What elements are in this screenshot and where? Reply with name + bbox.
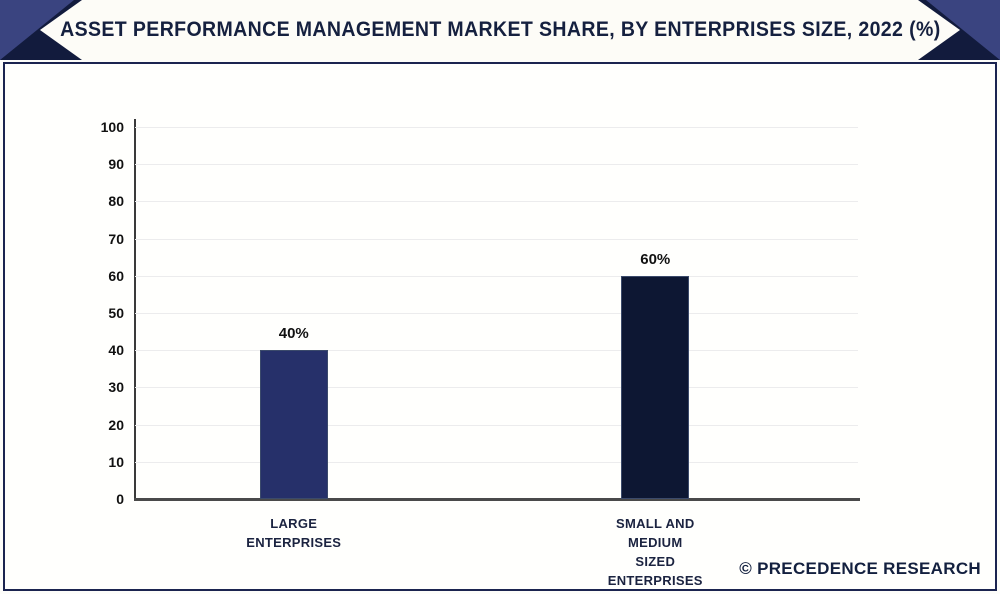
- x-axis-category-label: SMALL AND MEDIUM SIZED ENTERPRISES: [608, 515, 703, 590]
- gridline: [135, 276, 858, 277]
- bar-chart: 100908070605040302010040%LARGE ENTERPRIS…: [5, 64, 999, 593]
- gridline: [135, 127, 858, 128]
- gridline: [135, 425, 858, 426]
- gridline: [135, 164, 858, 165]
- y-axis-tick-label: 50: [108, 305, 124, 321]
- y-axis-tick-label: 70: [108, 231, 124, 247]
- chart-page: ASSET PERFORMANCE MANAGEMENT MARKET SHAR…: [0, 0, 1000, 594]
- bar-2[interactable]: 60%SMALL AND MEDIUM SIZED ENTERPRISES: [621, 276, 689, 499]
- y-axis-tick-label: 10: [108, 454, 124, 470]
- gridline: [135, 239, 858, 240]
- gridline: [135, 350, 858, 351]
- y-axis-tick-label: 80: [108, 193, 124, 209]
- gridline: [135, 387, 858, 388]
- attribution-label: © PRECEDENCE RESEARCH: [739, 559, 981, 579]
- y-axis-tick-label: 40: [108, 342, 124, 358]
- gridline: [135, 313, 858, 314]
- y-axis-tick-label: 20: [108, 417, 124, 433]
- bar-value-label: 40%: [279, 325, 309, 342]
- y-axis-tick-label: 0: [116, 491, 124, 507]
- page-title: ASSET PERFORMANCE MANAGEMENT MARKET SHAR…: [60, 18, 940, 42]
- chart-frame: 100908070605040302010040%LARGE ENTERPRIS…: [3, 62, 997, 591]
- y-axis-tick-label: 30: [108, 379, 124, 395]
- bar-1[interactable]: 40%LARGE ENTERPRISES: [260, 350, 328, 499]
- header-banner: ASSET PERFORMANCE MANAGEMENT MARKET SHAR…: [0, 0, 1000, 60]
- header-plate: ASSET PERFORMANCE MANAGEMENT MARKET SHAR…: [40, 0, 960, 60]
- gridline: [135, 462, 858, 463]
- x-axis-category-label: LARGE ENTERPRISES: [246, 515, 341, 553]
- y-axis-tick-label: 100: [101, 119, 124, 135]
- plot-area: 100908070605040302010040%LARGE ENTERPRIS…: [135, 127, 858, 499]
- gridline: [135, 201, 858, 202]
- y-axis-tick-label: 60: [108, 268, 124, 284]
- y-axis-tick-label: 90: [108, 156, 124, 172]
- bar-value-label: 60%: [640, 251, 670, 268]
